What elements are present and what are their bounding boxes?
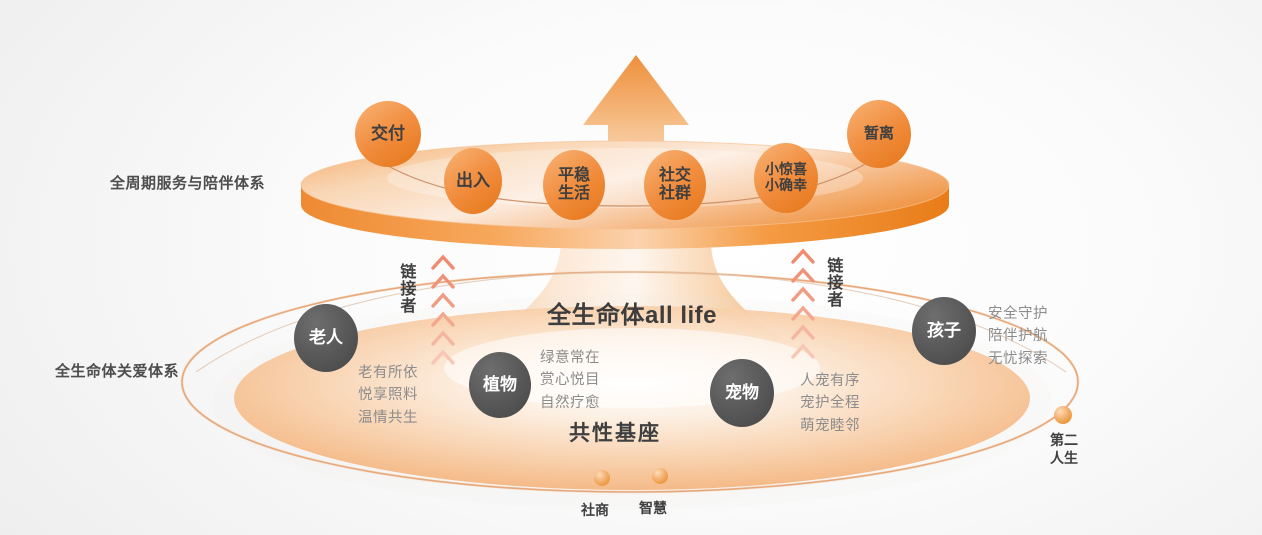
bullets-zhiwu-2: 自然疗愈 <box>540 392 600 414</box>
center-title: 全生命体all life <box>547 295 717 330</box>
top-node-shejiao-line1: 社交 <box>659 167 691 185</box>
bottom-dot-sheshang[interactable]: 社商 <box>581 500 609 520</box>
bottom-dot-zhihui[interactable]: 智慧 <box>639 498 667 518</box>
top-node-churu-label: 出入 <box>456 171 490 190</box>
bullets-chongwu: 人宠有序 宠护全程 萌宠睦邻 <box>800 370 860 437</box>
life-node-laoren[interactable]: 老人 <box>294 306 358 370</box>
top-node-pingwen-line2: 生活 <box>558 185 590 203</box>
diagram-canvas: 全周期服务与陪伴体系 全生命体关爱体系 交付 出入 平稳 生活 社交 社群 小惊… <box>0 0 1262 535</box>
top-node-zanli-label: 暂离 <box>864 126 894 143</box>
bullets-chongwu-0: 人宠有序 <box>800 370 860 392</box>
bullets-haizi: 安全守护 陪伴护航 无忧探索 <box>988 303 1048 370</box>
connector-label-left: 链接者 <box>396 263 414 314</box>
top-node-churu[interactable]: 出入 <box>444 148 502 214</box>
connector-label-right: 链接者 <box>823 257 841 308</box>
top-node-shejiao-shequn[interactable]: 社交 社群 <box>644 150 706 220</box>
bullets-zhiwu: 绿意常在 赏心悦目 自然疗愈 <box>540 347 600 414</box>
life-node-haizi[interactable]: 孩子 <box>912 299 976 363</box>
base-title: 共性基座 <box>569 417 661 447</box>
top-node-xiaojingxi-line2: 小确幸 <box>765 178 807 194</box>
life-node-zhiwu[interactable]: 植物 <box>469 354 531 416</box>
top-node-zanli[interactable]: 暂离 <box>847 100 911 168</box>
bullets-haizi-0: 安全守护 <box>988 303 1048 325</box>
life-node-haizi-label: 孩子 <box>927 321 961 340</box>
life-node-laoren-label: 老人 <box>309 328 343 347</box>
orbit-node-dier-rensheng-line2: 人生 <box>1036 450 1092 468</box>
life-node-chongwu-label: 宠物 <box>725 383 759 402</box>
bullets-chongwu-1: 宠护全程 <box>800 392 860 414</box>
bullets-chongwu-2: 萌宠睦邻 <box>800 415 860 437</box>
bullets-laoren: 老有所依 悦享照料 温情共生 <box>358 362 418 429</box>
top-node-shejiao-line2: 社群 <box>659 185 691 203</box>
label-bottom-care-system: 全生命体关爱体系 <box>55 360 179 381</box>
bullets-haizi-2: 无忧探索 <box>988 348 1048 370</box>
bullets-zhiwu-1: 赏心悦目 <box>540 369 600 391</box>
life-node-zhiwu-label: 植物 <box>483 375 517 394</box>
top-node-pingwen-shenghuo[interactable]: 平稳 生活 <box>543 150 605 220</box>
life-node-chongwu[interactable]: 宠物 <box>710 361 774 425</box>
top-node-pingwen-line1: 平稳 <box>558 167 590 185</box>
top-node-jiaofu[interactable]: 交付 <box>355 101 421 167</box>
bullets-laoren-1: 悦享照料 <box>358 384 418 406</box>
orbit-node-dier-rensheng-line1: 第二 <box>1036 432 1092 450</box>
bullets-laoren-0: 老有所依 <box>358 362 418 384</box>
orbit-node-dier-rensheng[interactable]: 第二 人生 <box>1036 432 1092 467</box>
top-node-jiaofu-label: 交付 <box>371 124 405 143</box>
bullets-laoren-2: 温情共生 <box>358 407 418 429</box>
label-top-service-system: 全周期服务与陪伴体系 <box>110 172 265 193</box>
bullets-zhiwu-0: 绿意常在 <box>540 347 600 369</box>
top-node-xiaojingxi-xiaoquexing[interactable]: 小惊喜 小确幸 <box>754 143 818 213</box>
top-node-xiaojingxi-line1: 小惊喜 <box>765 162 807 178</box>
bullets-haizi-1: 陪伴护航 <box>988 325 1048 347</box>
